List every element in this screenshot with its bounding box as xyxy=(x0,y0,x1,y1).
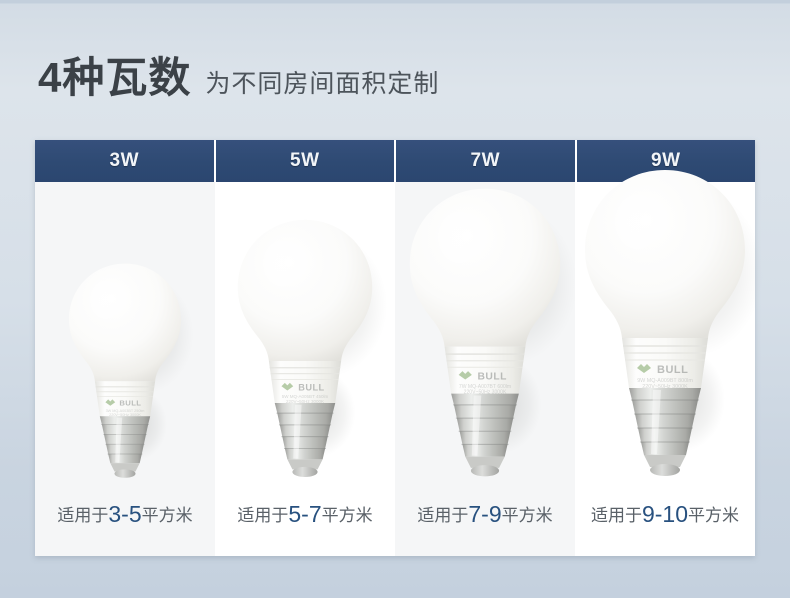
bulb-image-3w: BULL 3W MQ-A003BT 250lm 220V~50Hz 3000K … xyxy=(35,182,215,482)
product-column-9w: BULL 9W MQ-A009BT 800lm 220V~50Hz 3000K … xyxy=(575,182,755,556)
headline-sub-text: 为不同房间面积定制 xyxy=(205,72,439,97)
caption-7w: 适用于7-9平方米 xyxy=(395,503,575,526)
caption-9w: 适用于9-10平方米 xyxy=(575,503,755,526)
svg-text:BULL: BULL xyxy=(477,372,506,383)
wattage-header-3w: 3W xyxy=(35,140,214,182)
bulb-screw-base xyxy=(451,394,519,477)
caption-suffix: 平方米 xyxy=(688,506,739,525)
product-column-7w: BULL 7W MQ-A007BT 600lm 220V~50Hz 3000K … xyxy=(395,182,575,556)
caption-suffix: 平方米 xyxy=(142,506,193,525)
caption-3w: 适用于3-5平方米 xyxy=(35,503,215,526)
bulb-image-9w: BULL 9W MQ-A009BT 800lm 220V~50Hz 3000K … xyxy=(575,182,755,482)
bulb-5w: BULL 5W MQ-A005BT 450lm 220V~50Hz 3000K … xyxy=(221,205,389,482)
caption-area-range: 7-9 xyxy=(468,501,501,527)
bulb-3w: BULL 3W MQ-A003BT 250lm 220V~50Hz 3000K … xyxy=(55,251,195,482)
led-bulb-graphic: BULL 7W MQ-A007BT 600lm 220V~50Hz 3000K … xyxy=(391,172,579,482)
bulb-image-7w: BULL 7W MQ-A007BT 600lm 220V~50Hz 3000K … xyxy=(395,182,575,482)
wattage-body-row: BULL 3W MQ-A003BT 250lm 220V~50Hz 3000K … xyxy=(35,182,755,556)
caption-5w: 适用于5-7平方米 xyxy=(215,503,395,526)
caption-prefix: 适用于 xyxy=(237,506,288,525)
wattage-comparison-card: 3W 5W 7W 9W xyxy=(35,140,755,556)
bulb-screw-base xyxy=(629,388,701,476)
led-bulb-graphic: BULL 5W MQ-A005BT 450lm 220V~50Hz 3000K … xyxy=(221,205,389,482)
led-bulb-graphic: BULL 9W MQ-A009BT 800lm 220V~50Hz 3000K … xyxy=(565,152,765,482)
product-column-3w: BULL 3W MQ-A003BT 250lm 220V~50Hz 3000K … xyxy=(35,182,215,556)
product-column-5w: BULL 5W MQ-A005BT 450lm 220V~50Hz 3000K … xyxy=(215,182,395,556)
bulb-7w: BULL 7W MQ-A007BT 600lm 220V~50Hz 3000K … xyxy=(391,172,579,482)
bulb-image-5w: BULL 5W MQ-A005BT 450lm 220V~50Hz 3000K … xyxy=(215,182,395,482)
caption-area-range: 3-5 xyxy=(108,501,141,527)
led-bulb-graphic: BULL 3W MQ-A003BT 250lm 220V~50Hz 3000K … xyxy=(55,251,195,482)
bulb-screw-base xyxy=(100,416,150,478)
caption-suffix: 平方米 xyxy=(322,506,373,525)
svg-text:BULL: BULL xyxy=(657,364,688,376)
wattage-label: 7W xyxy=(471,150,501,172)
product-comparison-page: 4种瓦数 为不同房间面积定制 3W 5W 7W 9W xyxy=(0,0,790,598)
wattage-label: 5W xyxy=(290,150,320,172)
page-title: 4种瓦数 为不同房间面积定制 xyxy=(38,57,439,99)
caption-prefix: 适用于 xyxy=(57,506,108,525)
bulb-screw-base xyxy=(275,403,335,477)
wattage-label: 3W xyxy=(110,150,140,172)
caption-suffix: 平方米 xyxy=(502,506,553,525)
caption-area-range: 5-7 xyxy=(288,501,321,527)
caption-prefix: 适用于 xyxy=(417,506,468,525)
svg-text:BULL: BULL xyxy=(119,399,141,408)
svg-text:BULL: BULL xyxy=(298,382,324,392)
bulb-9w: BULL 9W MQ-A009BT 800lm 220V~50Hz 3000K … xyxy=(565,152,765,482)
caption-prefix: 适用于 xyxy=(591,506,642,525)
caption-area-range: 9-10 xyxy=(642,501,688,527)
wattage-header-5w: 5W xyxy=(216,140,395,182)
headline-main-text: 4种瓦数 xyxy=(38,57,191,99)
